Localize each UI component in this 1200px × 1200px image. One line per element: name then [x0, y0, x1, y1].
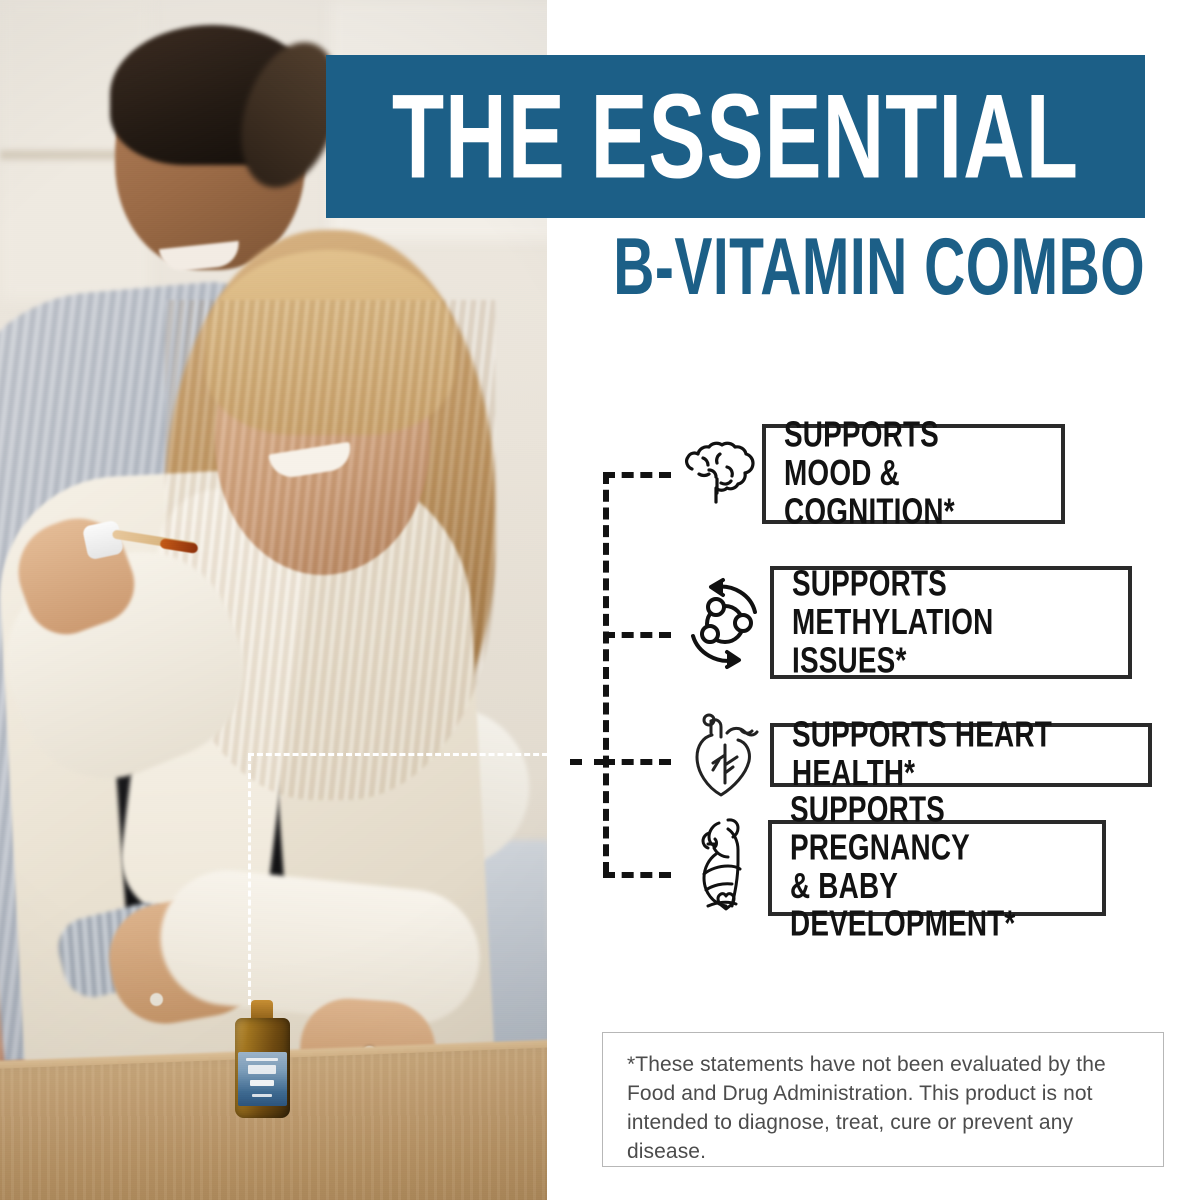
feature-label-box-1: SUPPORTS MOOD & COGNITION*	[762, 424, 1065, 524]
bottle-label	[238, 1052, 287, 1106]
connector-branch-3	[603, 759, 671, 765]
methylation-cycle-icon	[680, 573, 770, 673]
feature-row-mood-cognition[interactable]: SUPPORTS MOOD & COGNITION*	[672, 424, 1065, 524]
page-title: THE ESSENTIAL	[392, 77, 1079, 197]
feature-label-box-2: SUPPORTS METHYLATION ISSUES*	[770, 566, 1132, 679]
white-connector-vertical	[248, 755, 251, 1005]
brain-icon	[672, 424, 762, 524]
pregnancy-icon	[678, 818, 768, 918]
page-subtitle: B-VITAMIN COMBO	[613, 228, 1145, 309]
feature-label-box-3: SUPPORTS HEART HEALTH*	[770, 723, 1152, 787]
connector-branch-3-stub	[570, 759, 606, 765]
heart-icon	[680, 705, 770, 805]
feature-label-4: SUPPORTS PREGNANCY & BABY DEVELOPMENT*	[790, 792, 1067, 945]
product-bottle	[235, 1000, 290, 1118]
connector-trunk	[603, 472, 609, 874]
connector-branch-4	[603, 872, 671, 878]
connector-branch-1	[603, 472, 671, 478]
feature-label-1: SUPPORTS MOOD & COGNITION*	[784, 417, 1029, 531]
feature-row-methylation[interactable]: SUPPORTS METHYLATION ISSUES*	[680, 566, 1132, 679]
infographic-canvas: THE ESSENTIAL B-VITAMIN COMBO SU	[0, 0, 1200, 1200]
feature-row-pregnancy[interactable]: SUPPORTS PREGNANCY & BABY DEVELOPMENT*	[678, 818, 1106, 918]
disclaimer-box: *These statements have not been evaluate…	[602, 1032, 1164, 1167]
feature-label-box-4: SUPPORTS PREGNANCY & BABY DEVELOPMENT*	[768, 820, 1106, 916]
title-banner: THE ESSENTIAL	[326, 55, 1145, 218]
feature-label-3: SUPPORTS HEART HEALTH*	[792, 717, 1110, 793]
connector-branch-2	[603, 632, 671, 638]
subtitle-wrap: B-VITAMIN COMBO	[560, 228, 1145, 308]
disclaimer-text: *These statements have not been evaluate…	[627, 1051, 1141, 1167]
feature-label-2: SUPPORTS METHYLATION ISSUES*	[792, 565, 1091, 679]
white-connector-horizontal	[248, 753, 547, 756]
photo-ring-secondary	[150, 993, 163, 1006]
